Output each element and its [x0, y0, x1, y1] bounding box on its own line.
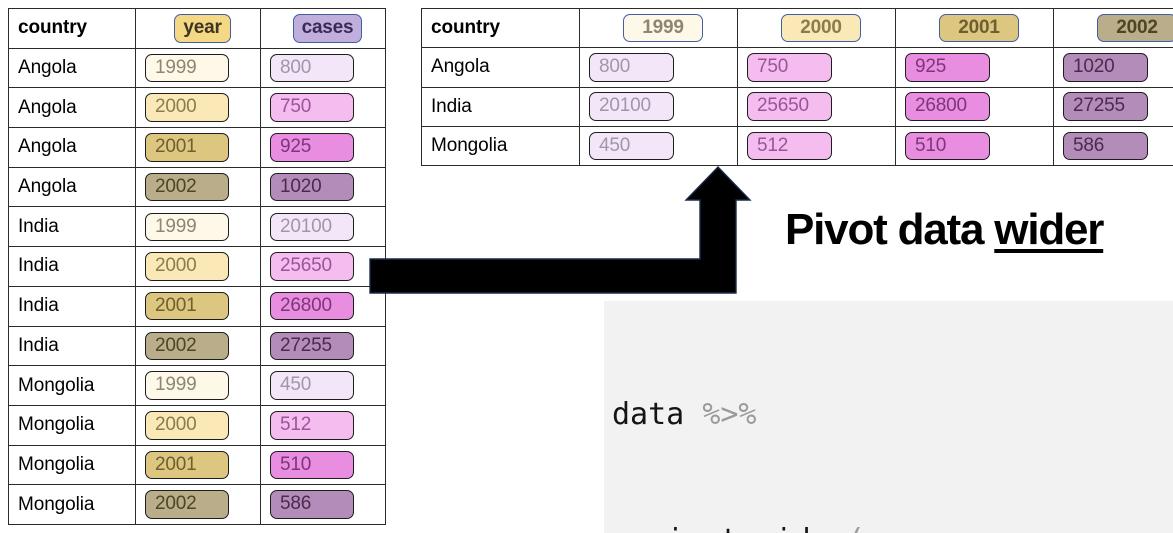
cell-year: 1999 [136, 366, 261, 406]
code-snippet: data %>% pivot_wider( names_from = "year… [604, 301, 1173, 533]
header-pill-2000: 2000 [781, 14, 861, 43]
code-token-pipe: %>% [702, 397, 756, 432]
cell-year: 2002 [136, 326, 261, 366]
cell-country: India [9, 207, 136, 247]
cell-cases-pill: 20100 [270, 213, 354, 242]
table-row: Mongolia1999450 [9, 366, 386, 406]
cell-cases: 512 [261, 405, 386, 445]
cell-cases: 800 [261, 48, 386, 88]
header-label-country: country [431, 17, 500, 38]
cell-cases: 1020 [261, 167, 386, 207]
table-header-row: country 1999 2000 2001 2002 [422, 9, 1173, 48]
cell-2000: 512 [738, 126, 896, 165]
code-line-1: data %>% [604, 394, 1173, 436]
cell-value-pill: 800 [589, 53, 674, 82]
caption-underlined-word: wider [994, 205, 1103, 254]
cell-cases-pill: 512 [270, 411, 354, 440]
header-cell-1999: 1999 [580, 9, 738, 48]
cell-cases: 750 [261, 88, 386, 128]
table-row: Angola1999800 [9, 48, 386, 88]
header-pill-2001: 2001 [939, 14, 1019, 43]
cell-value-pill: 925 [905, 53, 990, 82]
cell-year-pill: 2001 [145, 292, 229, 321]
cell-cases-pill: 25650 [270, 252, 354, 281]
cell-year-pill: 2000 [145, 93, 229, 122]
caption-prefix: Pivot data [785, 205, 994, 254]
arrow-shape [370, 167, 750, 293]
cell-value-pill: 586 [1063, 132, 1148, 161]
cell-year-pill: 2001 [145, 133, 229, 162]
header-cell-2001: 2001 [896, 9, 1054, 48]
cell-year-pill: 1999 [145, 54, 229, 83]
cell-country-label: Mongolia [18, 375, 94, 396]
cell-country-label: Mongolia [18, 454, 94, 475]
header-cell-cases: cases [261, 9, 386, 49]
page-title: Pivot data wider [785, 205, 1103, 255]
cell-year: 2001 [136, 445, 261, 485]
cell-cases-pill: 510 [270, 451, 354, 480]
cell-country: Angola [9, 167, 136, 207]
table-row: Mongolia2002586 [9, 485, 386, 525]
cell-1999: 450 [580, 126, 738, 165]
cell-country: Mongolia [9, 485, 136, 525]
cell-2002: 586 [1054, 126, 1173, 165]
table-row: Angola2000750 [9, 88, 386, 128]
cell-cases: 510 [261, 445, 386, 485]
cell-country: Angola [9, 88, 136, 128]
cell-year: 2002 [136, 485, 261, 525]
table-row: Mongolia450512510586 [422, 126, 1173, 165]
cell-country-label: India [431, 96, 472, 117]
cell-country: Mongolia [9, 405, 136, 445]
table-row: India20100256502680027255 [422, 87, 1173, 126]
header-cell-country: country [9, 9, 136, 49]
cell-country-label: India [18, 335, 59, 356]
cell-1999: 20100 [580, 87, 738, 126]
cell-country: Mongolia [422, 126, 580, 165]
cell-value-pill: 25650 [747, 92, 832, 121]
cell-year-pill: 2002 [145, 173, 229, 202]
cell-country: Angola [9, 128, 136, 168]
cell-country: India [9, 326, 136, 366]
cell-year: 1999 [136, 207, 261, 247]
cell-year: 2001 [136, 128, 261, 168]
cell-cases-pill: 750 [270, 93, 354, 122]
cell-country-label: Mongolia [431, 135, 507, 156]
cell-cases: 26800 [261, 286, 386, 326]
cell-country-label: Angola [18, 136, 77, 157]
cell-value-pill: 450 [589, 132, 674, 161]
long-format-table: country year cases Angola1999800Angola20… [8, 8, 386, 525]
cell-country: Mongolia [9, 366, 136, 406]
cell-year: 2000 [136, 405, 261, 445]
cell-1999: 800 [580, 48, 738, 87]
cell-country: India [9, 286, 136, 326]
cell-value-pill: 750 [747, 53, 832, 82]
cell-2000: 25650 [738, 87, 896, 126]
code-line-2: pivot_wider( [604, 520, 1173, 533]
cell-cases-pill: 586 [270, 490, 354, 519]
cell-cases-pill: 450 [270, 371, 354, 400]
cell-country-label: Angola [431, 56, 490, 77]
cell-cases-pill: 800 [270, 54, 354, 83]
cell-value-pill: 26800 [905, 92, 990, 121]
cell-country-label: Angola [18, 176, 77, 197]
cell-cases-pill: 1020 [270, 173, 354, 202]
cell-year: 2000 [136, 247, 261, 287]
cell-cases: 27255 [261, 326, 386, 366]
cell-value-pill: 27255 [1063, 92, 1148, 121]
cell-cases: 25650 [261, 247, 386, 287]
header-label-country: country [18, 17, 87, 38]
cell-country-label: India [18, 295, 59, 316]
cell-country: Mongolia [9, 445, 136, 485]
code-token-data: data [612, 397, 702, 432]
cell-year-pill: 1999 [145, 213, 229, 242]
code-token-open-paren: ( [847, 523, 865, 533]
cell-cases-pill: 26800 [270, 292, 354, 321]
cell-country-label: Mongolia [18, 494, 94, 515]
table-row: India200025650 [9, 247, 386, 287]
cell-country-label: India [18, 255, 59, 276]
table-row: India200126800 [9, 286, 386, 326]
cell-country-label: India [18, 216, 59, 237]
cell-cases: 450 [261, 366, 386, 406]
cell-cases: 20100 [261, 207, 386, 247]
cell-country: Angola [422, 48, 580, 87]
cell-value-pill: 1020 [1063, 53, 1148, 82]
cell-2002: 27255 [1054, 87, 1173, 126]
header-pill-year: year [174, 14, 230, 43]
cell-cases: 586 [261, 485, 386, 525]
cell-country-label: Angola [18, 57, 77, 78]
cell-country-label: Angola [18, 97, 77, 118]
pivot-arrow-icon [368, 165, 758, 300]
cell-year-pill: 2002 [145, 332, 229, 361]
cell-year-pill: 2002 [145, 490, 229, 519]
cell-2000: 750 [738, 48, 896, 87]
cell-2001: 26800 [896, 87, 1054, 126]
cell-value-pill: 510 [905, 132, 990, 161]
cell-year: 2000 [136, 88, 261, 128]
header-cell-country: country [422, 9, 580, 48]
cell-year: 2002 [136, 167, 261, 207]
header-pill-1999: 1999 [623, 14, 703, 43]
cell-country: Angola [9, 48, 136, 88]
cell-country: India [9, 247, 136, 287]
wide-format-table: country 1999 2000 2001 2002 Angola800750… [421, 8, 1173, 166]
table-header-row: country year cases [9, 9, 386, 49]
header-cell-2002: 2002 [1054, 9, 1173, 48]
cell-cases-pill: 27255 [270, 332, 354, 361]
cell-year-pill: 2000 [145, 411, 229, 440]
header-cell-year: year [136, 9, 261, 49]
table-row: India200227255 [9, 326, 386, 366]
header-pill-2002: 2002 [1097, 14, 1173, 43]
table-row: Angola8007509251020 [422, 48, 1173, 87]
code-token-pivot-wider: pivot_wider [612, 523, 847, 533]
table-row: Angola2001925 [9, 128, 386, 168]
cell-cases: 925 [261, 128, 386, 168]
cell-2001: 510 [896, 126, 1054, 165]
cell-year: 1999 [136, 48, 261, 88]
table-row: Mongolia2001510 [9, 445, 386, 485]
cell-year: 2001 [136, 286, 261, 326]
header-pill-cases: cases [293, 14, 363, 43]
table-row: Angola20021020 [9, 167, 386, 207]
cell-year-pill: 2000 [145, 252, 229, 281]
cell-country: India [422, 87, 580, 126]
table-row: India199920100 [9, 207, 386, 247]
cell-value-pill: 20100 [589, 92, 674, 121]
cell-country-label: Mongolia [18, 414, 94, 435]
cell-year-pill: 1999 [145, 371, 229, 400]
header-cell-2000: 2000 [738, 9, 896, 48]
cell-cases-pill: 925 [270, 133, 354, 162]
table-row: Mongolia2000512 [9, 405, 386, 445]
cell-2001: 925 [896, 48, 1054, 87]
cell-2002: 1020 [1054, 48, 1173, 87]
cell-value-pill: 512 [747, 132, 832, 161]
cell-year-pill: 2001 [145, 451, 229, 480]
